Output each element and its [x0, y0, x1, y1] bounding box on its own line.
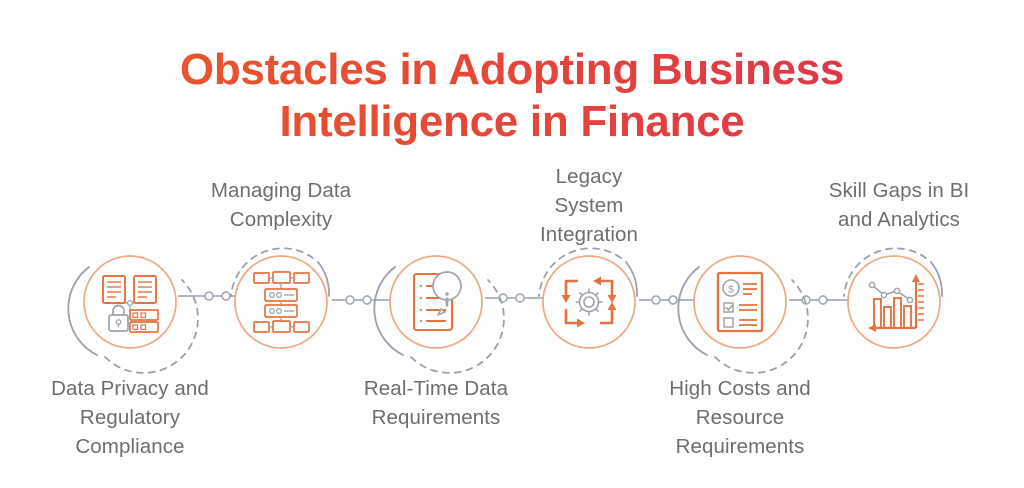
step-label-4: Legacy System Integration: [509, 162, 669, 249]
connector-1-2: [178, 292, 243, 300]
connector-5-6: [789, 296, 852, 304]
step-label-6: Skill Gaps in BI and Analytics: [794, 176, 1004, 234]
step-1-node[interactable]: [68, 256, 198, 373]
step-label-5: High Costs and Resource Requirements: [640, 374, 840, 461]
step-2-node[interactable]: [231, 248, 329, 348]
step-label-3: Real-Time Data Requirements: [336, 374, 536, 432]
connector-4-5: [639, 296, 702, 304]
step-label-2: Managing Data Complexity: [176, 176, 386, 234]
step-circle: [694, 256, 786, 348]
step-circle: [543, 256, 635, 348]
connector-3-4: [485, 294, 551, 302]
step-label-1: Data Privacy and Regulatory Compliance: [15, 374, 245, 461]
infographic-canvas: Obstacles in Adopting Business Intellige…: [0, 0, 1024, 488]
step-4-node[interactable]: [539, 248, 637, 348]
svg-text:$: $: [728, 284, 734, 296]
step-circle: [390, 256, 482, 348]
step-6-node[interactable]: [844, 248, 942, 348]
step-5-node[interactable]: $: [678, 256, 808, 373]
connector-2-3: [332, 296, 396, 304]
step-3-node[interactable]: [374, 256, 504, 373]
